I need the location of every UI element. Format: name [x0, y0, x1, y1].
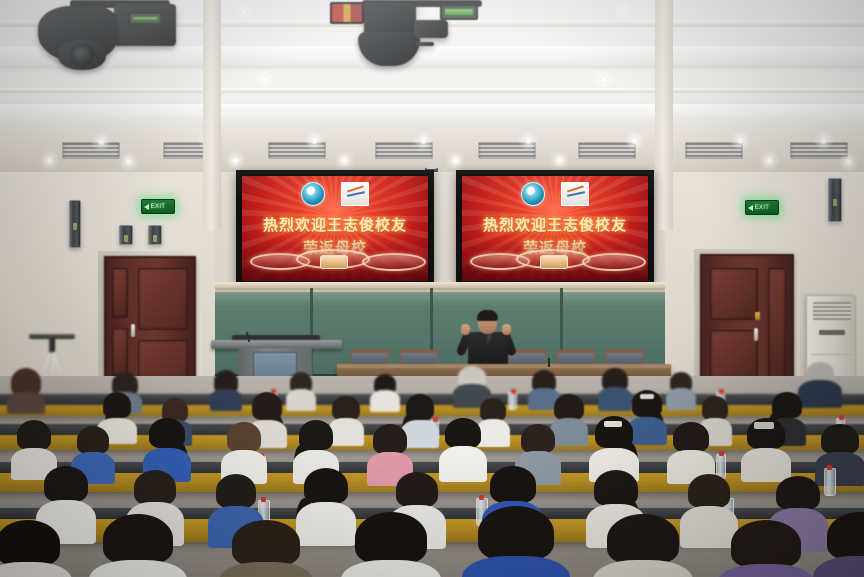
led-title-line-1: 热烈欢迎王志俊校友 [462, 214, 648, 235]
stadium-centerpiece [320, 255, 348, 269]
lecture-hall-photo: EXIT EXIT 热烈欢迎王志俊校友 荣返母校 2023年5月 [0, 0, 864, 577]
water-bottle [508, 392, 517, 410]
camera-tally-label [440, 4, 478, 20]
chalkboard-glare [215, 290, 665, 306]
camera-base [358, 32, 420, 66]
audience-person [820, 512, 864, 577]
person-body [7, 392, 45, 414]
downlight [420, 137, 427, 144]
audience-person [670, 422, 712, 474]
downlight [98, 138, 105, 145]
audience-person [96, 514, 180, 577]
person-hair [216, 474, 256, 508]
person-body [717, 564, 815, 577]
university-emblem-icon [301, 182, 325, 206]
person-body [341, 560, 441, 577]
ac-seam [811, 354, 853, 355]
speaker-hand-right [502, 324, 511, 335]
hair-clip [640, 394, 654, 399]
person-hair [490, 466, 536, 503]
person-hair [688, 474, 730, 508]
ceiling-vent [375, 142, 433, 159]
audience-person [296, 420, 336, 472]
person-hair [673, 422, 709, 452]
wall-speaker [828, 178, 842, 222]
downlight [556, 157, 563, 164]
hair-clip [754, 422, 774, 429]
exit-sign-left: EXIT [141, 199, 175, 214]
audience-person [212, 370, 240, 402]
audience-person [600, 514, 686, 577]
person-body [593, 560, 693, 577]
person-hair [554, 394, 584, 420]
downlight [240, 8, 247, 15]
person-hair [373, 424, 407, 454]
audience-person [724, 520, 808, 577]
audience-person [442, 418, 484, 472]
person-body [89, 560, 187, 577]
door-handle-icon[interactable] [131, 324, 135, 337]
ceiling-vent [685, 142, 743, 159]
downlight [737, 137, 744, 144]
university-emblem-icon [521, 182, 545, 206]
person-body [0, 562, 72, 577]
audience-person [0, 520, 66, 577]
camera-lens-icon [70, 44, 96, 68]
ceiling-camera-left [18, 0, 178, 72]
ceiling-vent [578, 142, 636, 159]
ceiling-vent [62, 142, 120, 159]
person-hair [227, 422, 261, 452]
person-hair [702, 396, 728, 420]
person-hair [232, 520, 300, 566]
door-handle-icon[interactable] [754, 328, 758, 341]
audience-person [288, 372, 314, 402]
person-hair [776, 476, 820, 510]
downlight [262, 76, 269, 83]
audience-person [224, 422, 264, 472]
institute-logo-icon [341, 182, 369, 206]
wall-speaker [148, 225, 162, 245]
audience-person [300, 468, 352, 536]
person-body [798, 380, 842, 408]
person-body [462, 556, 570, 577]
downlight [620, 8, 627, 15]
downlight [820, 137, 827, 144]
water-bottle [824, 468, 836, 496]
audience-person [348, 512, 434, 577]
person-body [439, 446, 487, 482]
stadium-oval [362, 253, 426, 271]
audience-person [600, 368, 630, 402]
exit-sign-right: EXIT [745, 200, 779, 215]
person-hair [607, 514, 679, 564]
ceiling-strip [0, 88, 864, 93]
led-title-line-1: 热烈欢迎王志俊校友 [242, 214, 428, 235]
person-hair [827, 512, 864, 560]
person-hair [445, 418, 481, 448]
person-hair [134, 470, 176, 505]
exit-sign-label: EXIT [151, 204, 166, 210]
audience-person [744, 418, 788, 472]
led-screen-surface: 热烈欢迎王志俊校友 荣返母校 2023年5月 [462, 176, 648, 281]
ceiling-beam [0, 104, 864, 126]
person-body [370, 390, 400, 412]
person-body [286, 389, 316, 411]
person-body [666, 388, 696, 410]
exit-sign-label: EXIT [755, 205, 770, 211]
led-screen-right: 热烈欢迎王志俊校友 荣返母校 2023年5月 [456, 170, 654, 287]
wall-pillar [655, 0, 673, 230]
led-logo-row [462, 182, 648, 206]
wall-pillar [203, 0, 221, 230]
exit-arrow-icon [748, 205, 753, 211]
camera-tally-label [128, 12, 162, 25]
door-panel [710, 268, 758, 320]
person-hair [478, 506, 554, 560]
person-hair [0, 520, 60, 566]
ceiling-vent [478, 142, 536, 159]
downlight [600, 76, 607, 83]
audience-person [668, 372, 694, 402]
downlight [766, 157, 773, 164]
downlight [845, 158, 852, 165]
audience-person [592, 416, 636, 472]
camera-body [114, 4, 176, 46]
led-screen-left: 热烈欢迎王志俊校友 荣返母校 2023年5月 [236, 170, 434, 287]
ac-brand-label [819, 330, 845, 335]
person-hair [521, 424, 555, 453]
camera-monitor-screen [330, 2, 364, 24]
door-lock-icon[interactable] [755, 312, 760, 320]
led-screen-surface: 热烈欢迎王志俊校友 荣返母校 2023年5月 [242, 176, 428, 281]
speaker-hair [477, 310, 498, 321]
person-body [210, 389, 242, 411]
table-microphone-icon [548, 358, 550, 367]
audience-person [226, 520, 306, 577]
stadium-centerpiece [540, 255, 568, 269]
hair-clip [604, 421, 622, 427]
led-stadium-artwork [242, 239, 428, 281]
audience-person [14, 420, 54, 468]
audience-person [470, 506, 562, 577]
person-hair [77, 426, 109, 454]
wall-speaker [69, 200, 81, 248]
audience-person [800, 362, 840, 404]
person-hair [44, 466, 88, 502]
person-hair [821, 424, 859, 454]
person-hair [17, 420, 51, 450]
institute-logo-icon [561, 182, 589, 206]
camera-arm [414, 20, 448, 38]
person-hair [396, 472, 438, 507]
camera-handle [416, 42, 434, 46]
downlight [311, 137, 318, 144]
audience-person [8, 368, 44, 402]
downlight [125, 158, 132, 165]
downlight [46, 157, 53, 164]
ceiling-vent [790, 142, 848, 159]
ceiling-vent [268, 142, 326, 159]
downlight [452, 157, 459, 164]
person-body [598, 387, 632, 411]
led-logo-row [242, 182, 428, 206]
door-panel [710, 330, 758, 382]
ac-grill-icon [813, 302, 851, 320]
person-hair [103, 514, 173, 564]
downlight [631, 137, 638, 144]
person-body [219, 562, 313, 577]
person-hair [355, 512, 427, 564]
downlight [232, 157, 239, 164]
downlight [341, 157, 348, 164]
downlight [525, 137, 532, 144]
door-panel [112, 268, 128, 318]
audience-person [370, 424, 410, 474]
person-hair [731, 520, 801, 568]
exit-arrow-icon [144, 204, 149, 210]
speaker-hand-left [461, 324, 470, 335]
stadium-oval [582, 253, 646, 271]
led-stadium-artwork [462, 239, 648, 281]
door-panel [112, 328, 128, 376]
person-hair [332, 396, 360, 420]
door-panel [768, 268, 786, 382]
person-body [813, 556, 864, 577]
person-hair [304, 468, 348, 504]
audience-person [146, 418, 188, 470]
wall-speaker [119, 225, 133, 245]
audience-person [372, 374, 398, 404]
ceiling-camera-center [322, 0, 492, 68]
door-panel [138, 268, 188, 330]
